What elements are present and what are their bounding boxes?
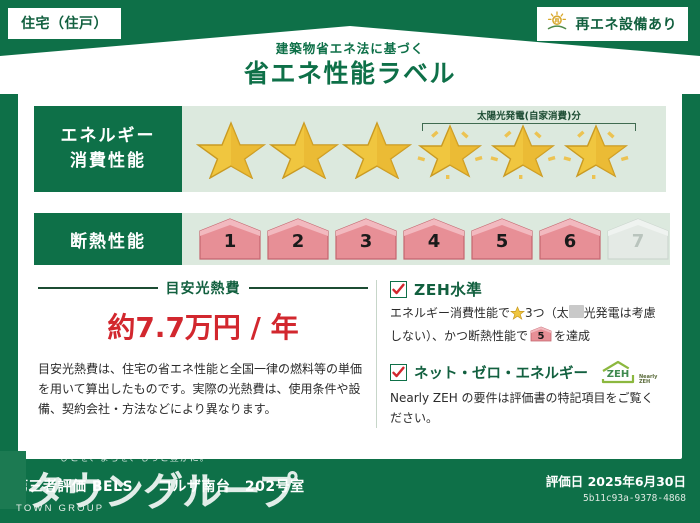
checkbox-checked xyxy=(390,281,407,298)
label-title: 省エネ性能ラベル xyxy=(0,58,700,89)
energy-performance-row: エネルギー 消費性能 太陽光発電(自家消費)分 xyxy=(34,106,666,192)
zeh-logo-sublabel: Nearly ZEH xyxy=(639,375,657,386)
energy-performance-label: エネルギー 消費性能 xyxy=(34,106,182,192)
insulation-level-badge: 5 xyxy=(470,217,534,261)
insulation-level-badge: 6 xyxy=(538,217,602,261)
star-icon xyxy=(510,306,525,326)
zeh-standard-title: ZEH水準 xyxy=(414,278,482,300)
rule-right xyxy=(249,287,369,289)
energy-cost-value: 約7.7万円 / 年 xyxy=(38,306,368,346)
net-zero-energy-text: Nearly ZEH の要件は評価書の特記項目をご覧ください。 xyxy=(390,389,664,427)
zeh-standard-text: エネルギー消費性能で 3つ（太光発電は考慮しない）、かつ断熱性能で 5 を達成 xyxy=(390,304,664,346)
insulation-performance-row: 断熱性能 1 2 xyxy=(34,213,666,265)
zeh-column: ZEH水準 エネルギー消費性能で 3つ（太光発電は考慮しない）、かつ断熱性能で … xyxy=(390,278,664,441)
insulation-level-badge: 4 xyxy=(402,217,466,261)
insulation-level-badge: 2 xyxy=(266,217,330,261)
insulation-level-badge: 3 xyxy=(334,217,398,261)
zeh-standard-heading: ZEH水準 xyxy=(390,278,664,300)
zeh-standard-item: ZEH水準 エネルギー消費性能で 3つ（太光発電は考慮しない）、かつ断熱性能で … xyxy=(390,278,664,346)
star-icon xyxy=(269,117,339,179)
label-footer: 第三者評価 BELS コルザ南台 202号室 評価日 2025年6月30日 5b… xyxy=(0,459,700,523)
energy-performance-stars-panel: 太陽光発電(自家消費)分 xyxy=(182,106,666,192)
insulation-level-badge: 1 xyxy=(198,217,262,261)
label-subtitle: 建築物省エネ法に基づく xyxy=(0,42,700,56)
solar-contribution-bracket xyxy=(422,123,636,131)
net-zero-energy-heading: ネット・ゼロ・エネルギー ZEH Nearly ZEH xyxy=(390,359,664,385)
checkbox-checked xyxy=(390,364,407,381)
footer-building-info: 第三者評価 BELS コルザ南台 202号室 xyxy=(14,476,305,496)
evaluation-date: 評価日 2025年6月30日 xyxy=(546,471,686,490)
svg-text:再: 再 xyxy=(554,17,560,25)
solar-contribution-label: 太陽光発電(自家消費)分 xyxy=(418,108,640,122)
star-icon xyxy=(196,117,266,179)
evaluation-id: 5b11c93a-9378-4868 xyxy=(546,493,686,504)
star-icon xyxy=(342,117,412,179)
energy-cost-heading: 目安光熱費 xyxy=(38,278,368,298)
renewable-equipment-badge: 再 再エネ設備あり xyxy=(537,7,689,41)
insulation-level-inline-badge: 5 xyxy=(530,326,552,342)
housing-type-badge: 住宅（住戸） xyxy=(8,8,121,39)
renewable-equipment-label: 再エネ設備あり xyxy=(576,14,678,34)
rule-left xyxy=(38,287,158,289)
redacted-block xyxy=(569,305,584,318)
column-divider xyxy=(376,280,377,428)
energy-cost-note: 目安光熱費は、住宅の省エネ性能と全国一律の燃料等の単価を用いて算出したものです。… xyxy=(38,360,368,419)
net-zero-energy-item: ネット・ゼロ・エネルギー ZEH Nearly ZEH Nearly ZEH の… xyxy=(390,359,664,427)
insulation-level-badge-inactive: 7 xyxy=(606,217,670,261)
label-title-block: 建築物省エネ法に基づく 省エネ性能ラベル xyxy=(0,42,700,89)
insulation-levels-panel: 1 2 3 xyxy=(182,213,670,265)
energy-cost-block: 目安光熱費 約7.7万円 / 年 目安光熱費は、住宅の省エネ性能と全国一律の燃料… xyxy=(38,278,368,419)
insulation-performance-label: 断熱性能 xyxy=(34,213,182,265)
net-zero-energy-title: ネット・ゼロ・エネルギー xyxy=(414,362,588,383)
label-card: エネルギー 消費性能 太陽光発電(自家消費)分 xyxy=(18,88,682,459)
energy-label-root: 住宅（住戸） 再 再エネ設備あり 建築物省エネ法に基づく 省エネ性能ラベル xyxy=(0,0,700,523)
zeh-logo: ZEH Nearly ZEH xyxy=(599,359,657,385)
footer-evaluation-info: 評価日 2025年6月30日 5b11c93a-9378-4868 xyxy=(546,471,686,504)
insulation-level-badges: 1 2 3 xyxy=(182,217,670,261)
sun-icon: 再 xyxy=(546,11,570,36)
svg-text:ZEH: ZEH xyxy=(607,369,629,380)
